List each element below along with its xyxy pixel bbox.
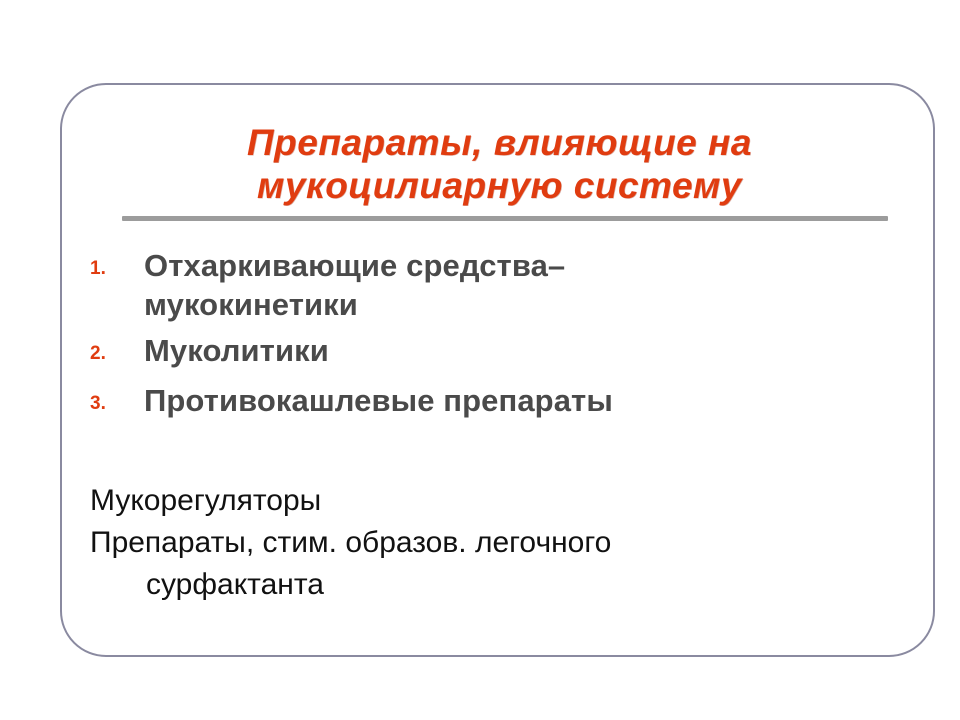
title-line-1: Препараты, влияющие на	[62, 121, 937, 164]
list-marker-1: 1.	[90, 246, 144, 289]
slide-card: Препараты, влияющие на мукоцилиарную сис…	[60, 83, 935, 657]
list-item-text-1-line-1: Отхаркивающие средства–	[144, 248, 565, 283]
list-item-text-1: Отхаркивающие средства– мукокинетики	[144, 246, 910, 324]
list-marker-2: 2.	[90, 331, 144, 374]
plain-text-line-1: Мукорегуляторы	[90, 480, 920, 522]
plain-text-line-3-wrapper: сурфактанта	[90, 564, 920, 606]
list-item: 3. Противокашлевые препараты	[90, 381, 910, 424]
plain-text-line-3: сурфактанта	[90, 564, 920, 606]
slide-title: Препараты, влияющие на мукоцилиарную сис…	[62, 121, 937, 207]
numbered-list: 1. Отхаркивающие средства– мукокинетики …	[90, 246, 910, 431]
plain-text-line-2: Препараты, стим. образов. легочного	[90, 522, 920, 564]
list-item-text-1-line-2: мукокинетики	[144, 287, 358, 322]
plain-text-block: Мукорегуляторы Препараты, стим. образов.…	[90, 480, 920, 606]
list-marker-3: 3.	[90, 381, 144, 424]
title-divider-rule	[122, 216, 888, 221]
title-line-2: мукоцилиарную систему	[62, 164, 937, 207]
list-item: 2. Муколитики	[90, 331, 910, 374]
list-item-text-2: Муколитики	[144, 331, 910, 370]
list-item-text-3: Противокашлевые препараты	[144, 381, 910, 420]
list-item: 1. Отхаркивающие средства– мукокинетики	[90, 246, 910, 324]
